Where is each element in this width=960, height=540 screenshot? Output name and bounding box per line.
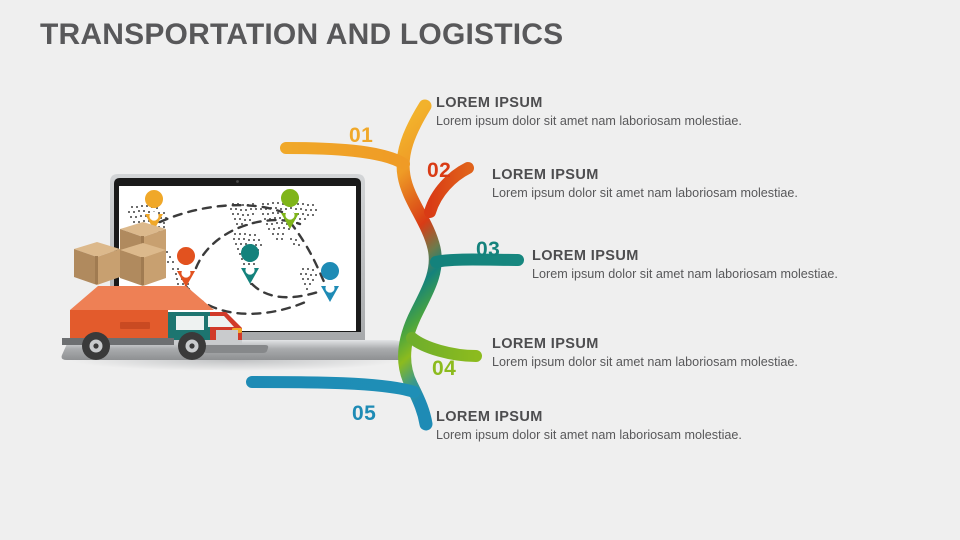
item-text-02: LOREM IPSUM Lorem ipsum dolor sit amet n… bbox=[492, 167, 798, 200]
item-text-03: LOREM IPSUM Lorem ipsum dolor sit amet n… bbox=[532, 248, 838, 281]
item-body-03: Lorem ipsum dolor sit amet nam laboriosa… bbox=[532, 267, 838, 281]
item-number-05: 05 bbox=[352, 403, 376, 424]
item-heading-04: LOREM IPSUM bbox=[492, 336, 798, 352]
vine-branch-04 bbox=[412, 338, 476, 356]
item-number-03: 03 bbox=[476, 239, 500, 260]
item-body-05: Lorem ipsum dolor sit amet nam laboriosa… bbox=[436, 428, 742, 442]
item-text-01: LOREM IPSUM Lorem ipsum dolor sit amet n… bbox=[436, 95, 742, 128]
item-body-04: Lorem ipsum dolor sit amet nam laboriosa… bbox=[492, 355, 798, 369]
item-text-05: LOREM IPSUM Lorem ipsum dolor sit amet n… bbox=[436, 409, 742, 442]
item-body-02: Lorem ipsum dolor sit amet nam laboriosa… bbox=[492, 186, 798, 200]
item-heading-03: LOREM IPSUM bbox=[532, 248, 838, 264]
item-heading-05: LOREM IPSUM bbox=[436, 409, 742, 425]
item-text-04: LOREM IPSUM Lorem ipsum dolor sit amet n… bbox=[492, 336, 798, 369]
item-heading-01: LOREM IPSUM bbox=[436, 95, 742, 111]
vine-branch-05 bbox=[252, 382, 414, 392]
item-body-01: Lorem ipsum dolor sit amet nam laboriosa… bbox=[436, 114, 742, 128]
item-number-01: 01 bbox=[349, 125, 373, 146]
slide-canvas: TRANSPORTATION AND LOGISTICS bbox=[0, 0, 960, 540]
item-number-04: 04 bbox=[432, 358, 456, 379]
vine-main-stem bbox=[403, 106, 435, 424]
item-number-02: 02 bbox=[427, 160, 451, 181]
item-heading-02: LOREM IPSUM bbox=[492, 167, 798, 183]
vine-branch-01 bbox=[286, 148, 404, 164]
